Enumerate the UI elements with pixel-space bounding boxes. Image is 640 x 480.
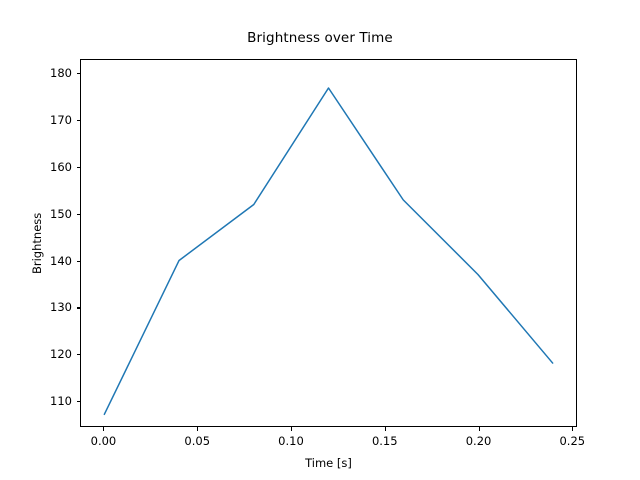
x-tick-label: 0.05 bbox=[184, 434, 210, 448]
x-tick-label: 0.00 bbox=[91, 434, 117, 448]
y-tick-mark bbox=[77, 73, 81, 74]
y-tick-mark bbox=[77, 354, 81, 355]
y-tick-label: 120 bbox=[38, 347, 72, 361]
y-tick-mark bbox=[77, 261, 81, 262]
plot-area bbox=[80, 59, 577, 427]
brightness-line bbox=[104, 88, 552, 414]
y-tick-label: 110 bbox=[38, 394, 72, 408]
x-tick-mark bbox=[197, 427, 198, 431]
x-tick-mark bbox=[385, 427, 386, 431]
y-tick-label: 170 bbox=[38, 113, 72, 127]
y-tick-label: 180 bbox=[38, 66, 72, 80]
x-tick-label: 0.25 bbox=[559, 434, 585, 448]
y-tick-mark bbox=[77, 167, 81, 168]
data-series-line bbox=[81, 60, 576, 426]
y-tick-label: 160 bbox=[38, 160, 72, 174]
page-title: Brightness over Time bbox=[0, 30, 640, 46]
x-tick-label: 0.20 bbox=[466, 434, 492, 448]
y-axis-label: Brightness bbox=[30, 212, 44, 273]
x-tick-mark bbox=[291, 427, 292, 431]
y-tick-label: 130 bbox=[38, 300, 72, 314]
x-axis-label: Time [s] bbox=[80, 456, 577, 470]
y-tick-mark bbox=[77, 120, 81, 121]
y-tick-mark bbox=[77, 307, 81, 308]
x-tick-mark bbox=[572, 427, 573, 431]
y-tick-mark bbox=[77, 401, 81, 402]
figure-canvas: Brightness over Time 1101201301401501601… bbox=[0, 0, 640, 480]
x-tick-mark bbox=[479, 427, 480, 431]
x-tick-label: 0.10 bbox=[278, 434, 304, 448]
x-tick-mark bbox=[103, 427, 104, 431]
x-tick-label: 0.15 bbox=[372, 434, 398, 448]
y-tick-mark bbox=[77, 214, 81, 215]
